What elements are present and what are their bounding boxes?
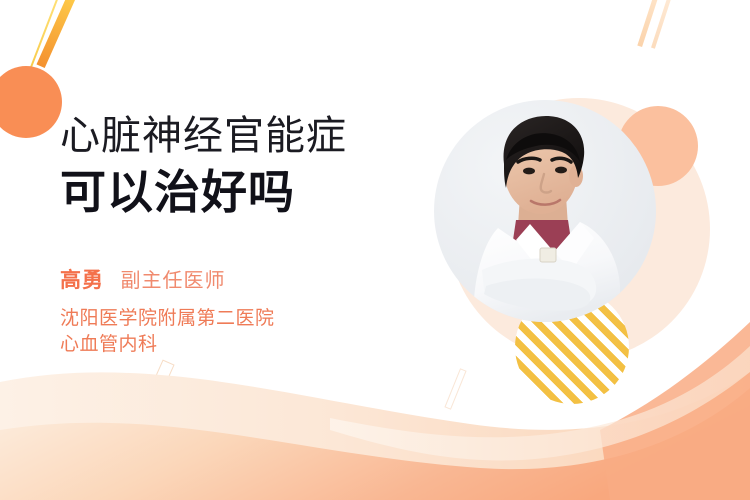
doctor-department: 心血管内科: [60, 332, 440, 358]
portrait-composition: [410, 60, 750, 390]
poster-text-block: 心脏神经官能症 可以治好吗 高勇 副主任医师 沈阳医学院附属第二医院 心血管内科: [60, 112, 440, 358]
avatar: [434, 100, 656, 322]
doctor-portrait: [434, 100, 656, 322]
doctor-name: 高勇: [60, 269, 104, 292]
promo-poster: 心脏神经官能症 可以治好吗 高勇 副主任医师 沈阳医学院附属第二医院 心血管内科: [0, 0, 750, 500]
page-title-line-2: 可以治好吗: [60, 164, 440, 220]
page-title-line-1: 心脏神经官能症: [60, 112, 440, 160]
doctor-hospital: 沈阳医学院附属第二医院: [60, 306, 440, 332]
doctor-identity: 高勇 副主任医师: [60, 264, 440, 294]
doctor-job-title: 副主任医师: [120, 270, 225, 292]
